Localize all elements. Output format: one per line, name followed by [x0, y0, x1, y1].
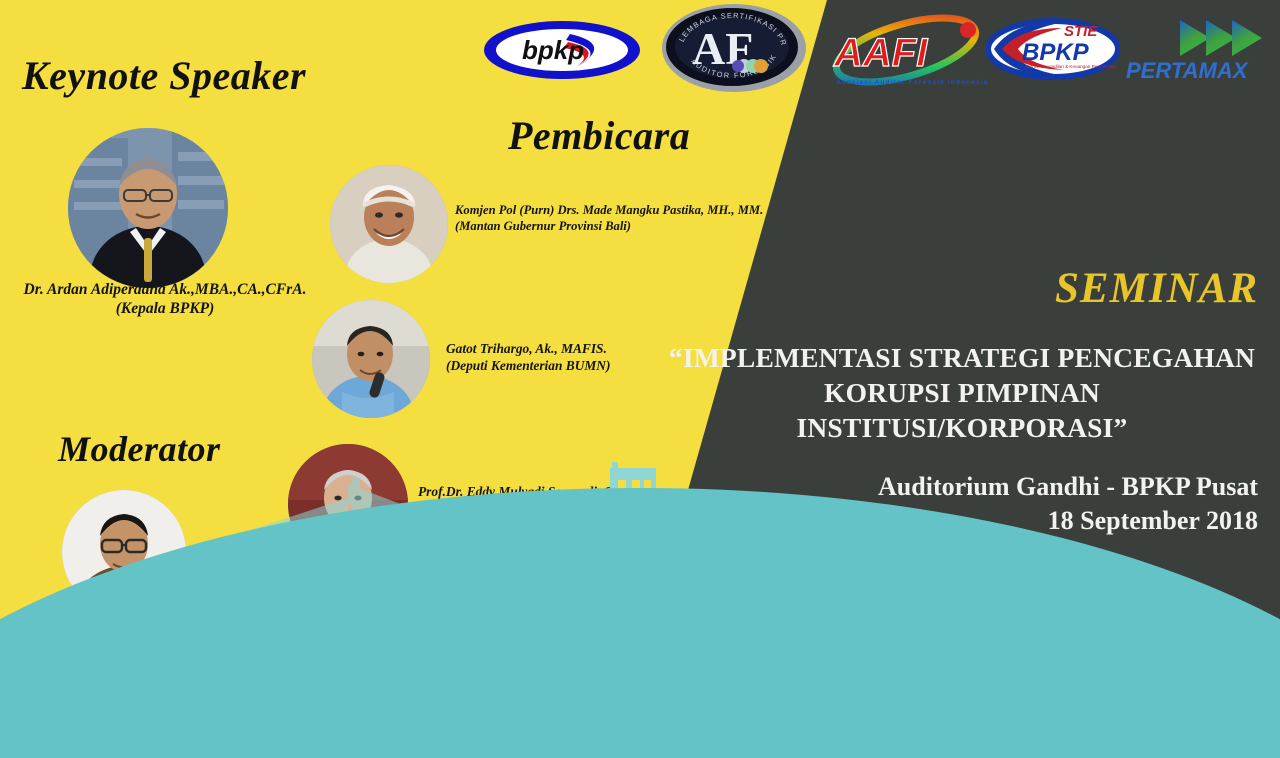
- keynote-speaker-caption: Dr. Ardan Adiperdana Ak.,MBA.,CA.,CFrA. …: [0, 280, 330, 319]
- speaker-2-caption: Gatot Trihargo, Ak., MAFIS. (Deputi Keme…: [446, 341, 610, 375]
- keynote-speaker-photo: [68, 128, 228, 288]
- seminar-poster: bpkp LEMBAGA SERTIFIKASI PROFESI AUDITOR…: [0, 0, 1280, 758]
- speaker-2-role: (Deputi Kementerian BUMN): [446, 358, 610, 375]
- speaker-1-caption: Komjen Pol (Purn) Drs. Made Mangku Pasti…: [455, 203, 763, 234]
- svg-text:PERTAMAX: PERTAMAX: [1126, 58, 1249, 83]
- speaker-1-role: (Mantan Gubernur Provinsi Bali): [455, 219, 763, 235]
- svg-text:Asosiasi Auditor Forensik Indo: Asosiasi Auditor Forensik Indonesia: [836, 79, 988, 86]
- keynote-speaker-role: (Kepala BPKP): [0, 299, 330, 318]
- speaker-2-name: Gatot Trihargo, Ak., MAFIS.: [446, 341, 607, 356]
- svg-text:Bisnis, Pengadilan & Keuangan: Bisnis, Pengadilan & Keuangan Pemerintah: [1026, 64, 1116, 69]
- keynote-speaker-heading: Keynote Speaker: [22, 52, 306, 99]
- aafi-logo: AAFI Asosiasi Auditor Forensik Indonesia: [824, 14, 988, 88]
- seminar-title-line-1: “IMPLEMENTASI STRATEGI PENCEGAHAN: [662, 340, 1262, 375]
- keynote-speaker-name: Dr. Ardan Adiperdana Ak.,MBA.,CA.,CFrA.: [24, 281, 307, 298]
- pembicara-heading: Pembicara: [508, 112, 690, 159]
- event-venue: Auditorium Gandhi - BPKP Pusat: [878, 470, 1258, 504]
- svg-text:STIE: STIE: [1064, 23, 1098, 40]
- seminar-label: SEMINAR: [1055, 264, 1258, 313]
- afi-logo: LEMBAGA SERTIFIKASI PROFESI AUDITOR FORE…: [660, 2, 808, 94]
- bpkp-logo: bpkp: [482, 18, 642, 82]
- seminar-title: “IMPLEMENTASI STRATEGI PENCEGAHAN KORUPS…: [662, 340, 1262, 446]
- pertamax-logo: PERTAMAX: [1124, 14, 1264, 86]
- speaker-1-name: Komjen Pol (Purn) Drs. Made Mangku Pasti…: [455, 203, 763, 217]
- seminar-title-line-2: KORUPSI PIMPINAN INSTITUSI/KORPORASI”: [662, 375, 1262, 445]
- svg-text:BPKP: BPKP: [1022, 39, 1090, 66]
- speaker-1-photo: [330, 165, 448, 283]
- svg-text:AAFI: AAFI: [833, 31, 928, 75]
- svg-text:bpkp: bpkp: [522, 35, 584, 65]
- moderator-heading: Moderator: [58, 428, 221, 470]
- stie-bpkp-logo: STIE BPKP Bisnis, Pengadilan & Keuangan …: [986, 18, 1120, 80]
